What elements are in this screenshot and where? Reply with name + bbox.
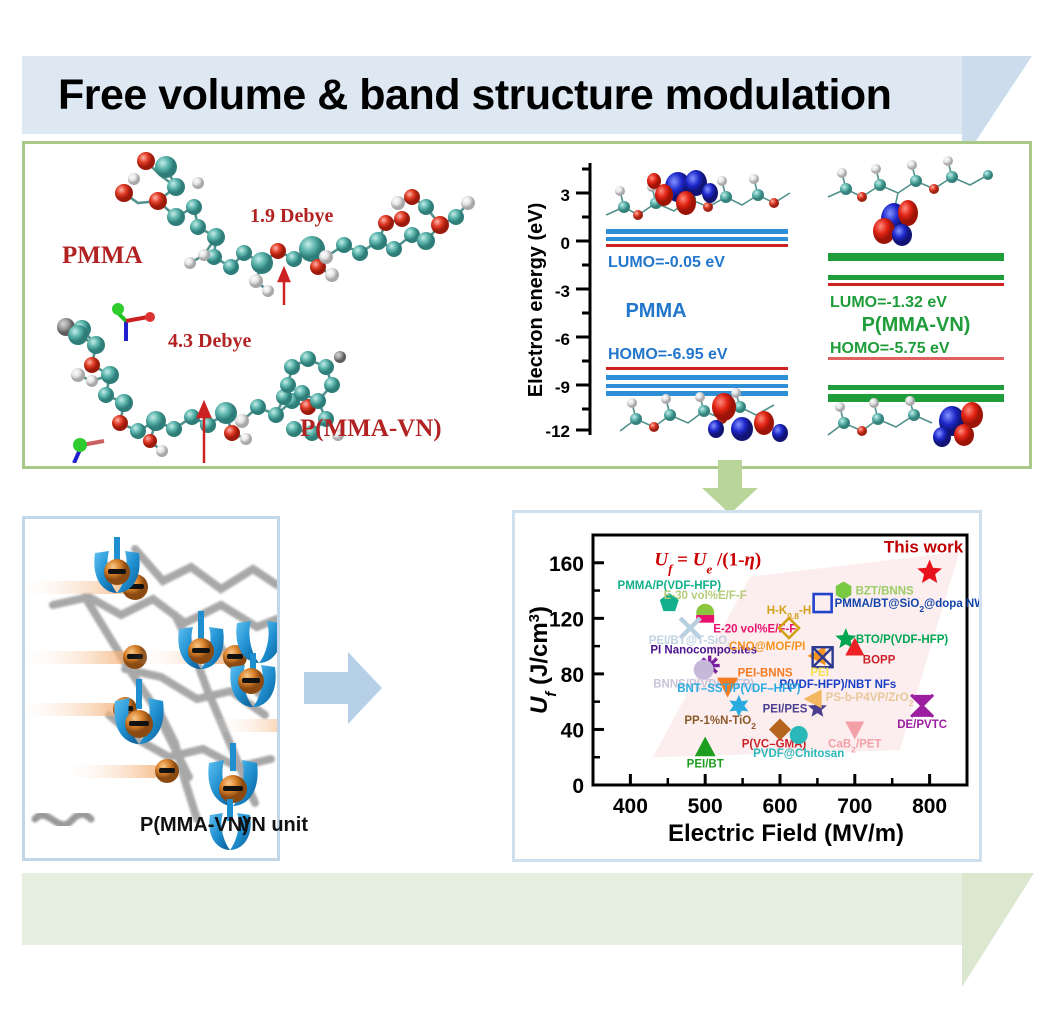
band-diagram: 3 0 -3 -6 -9 -12 Electron energy (eV) (528, 145, 1028, 463)
band-tick-3: 3 (561, 186, 570, 205)
chart-point-label: CNO@MOF/PI (729, 641, 805, 653)
chart-point-label: BOPP (863, 655, 896, 667)
pmmavn-lumo-label: LUMO=-1.32 eV (830, 294, 947, 311)
top-banner: Free volume & band structure modulation (22, 56, 1032, 134)
performance-scatter-chart[interactable]: 04080120160400500600700800Electric Field… (515, 513, 979, 859)
pmmavn-homo-underline (828, 357, 1004, 360)
band-tick-neg9: -9 (555, 378, 570, 397)
chart-point-label: This work (884, 538, 964, 557)
chart-point-label: PEI-BNNS (738, 667, 793, 679)
chart-point-label: BNT–SST/P(VDF–HFP) (677, 683, 800, 695)
chart-x-axis-title: Electric Field (MV/m) (668, 820, 904, 847)
chart-point-label: PEI/PES (763, 704, 808, 716)
chart-ytick: 0 (572, 775, 584, 798)
top-banner-text: Free volume & band structure modulation (58, 71, 891, 120)
pmmavn-lumo-bands (828, 253, 1004, 286)
pmma-homo-bands (606, 367, 788, 396)
polymer-schematic (25, 519, 277, 858)
chart-point-label: PEI (810, 667, 829, 679)
pmma-name-label: PMMA (625, 300, 686, 322)
pmma-homo-orbital (620, 388, 788, 442)
bottom-banner (22, 873, 1032, 945)
pmmavn-name-label: P(MMA-VN) (862, 314, 971, 336)
band-tick-neg6: -6 (555, 330, 570, 349)
chart-ytick: 120 (549, 608, 584, 631)
band-tick-neg12: -12 (545, 422, 570, 441)
band-axis-title: Electron energy (eV) (528, 203, 547, 398)
pmmavn-homo-bands (828, 385, 1004, 402)
chart-ytick: 40 (561, 719, 584, 742)
pmmavn-lumo-orbital (828, 156, 993, 246)
chart-point-label: PEI/BT (687, 759, 724, 771)
pmma-homo-label: HOMO=-6.95 eV (608, 346, 728, 363)
legend-vn-unit-label: VN unit (238, 814, 308, 837)
chart-ytick: 80 (561, 664, 584, 687)
pmma-lumo-orbital (606, 170, 790, 220)
pmma-lumo-label: LUMO=-0.05 eV (608, 254, 725, 271)
chart-xtick: 400 (613, 795, 648, 818)
molecule-label-pmma: PMMA (62, 242, 143, 270)
chart-equation-annotation: Uf = Ue /(1-η) (654, 550, 761, 577)
chart-xtick: 500 (688, 795, 723, 818)
chart-xtick: 700 (837, 795, 872, 818)
chart-point-label: BTO/P(VDF-HFP) (856, 634, 949, 646)
pmmavn-homo-orbital (828, 396, 983, 447)
legend-chain-icon (35, 814, 91, 824)
chart-xtick: 800 (912, 795, 947, 818)
bottom-banner-arrow-icon (962, 859, 1034, 987)
pmmavn-homo-label: HOMO=-5.75 eV (830, 340, 950, 357)
top-banner-body: Free volume & band structure modulation (22, 56, 962, 134)
flow-arrow-right-icon (304, 650, 382, 726)
dipole-label-pmma-vn: 4.3 Debye (168, 330, 251, 353)
bottom-banner-body (22, 873, 962, 945)
band-tick-0: 0 (561, 234, 570, 253)
pmma-lumo-bands (606, 229, 788, 247)
chart-ytick: 160 (549, 553, 584, 576)
chart-xtick: 600 (762, 795, 797, 818)
dipole-label-pmma: 1.9 Debye (250, 205, 333, 228)
flow-arrow-down-icon (700, 460, 760, 514)
chart-point-label: DE/PVTC (897, 719, 947, 731)
molecule-label-pmma-vn: P(MMA-VN) (300, 415, 442, 443)
legend-chain-label: P(MMA-VN) (140, 814, 249, 837)
chart-point-label: E-30 vol%E/F-F (664, 590, 747, 602)
chart-point-label: BZT/BNNS (856, 586, 914, 598)
band-tick-neg3: -3 (555, 282, 570, 301)
